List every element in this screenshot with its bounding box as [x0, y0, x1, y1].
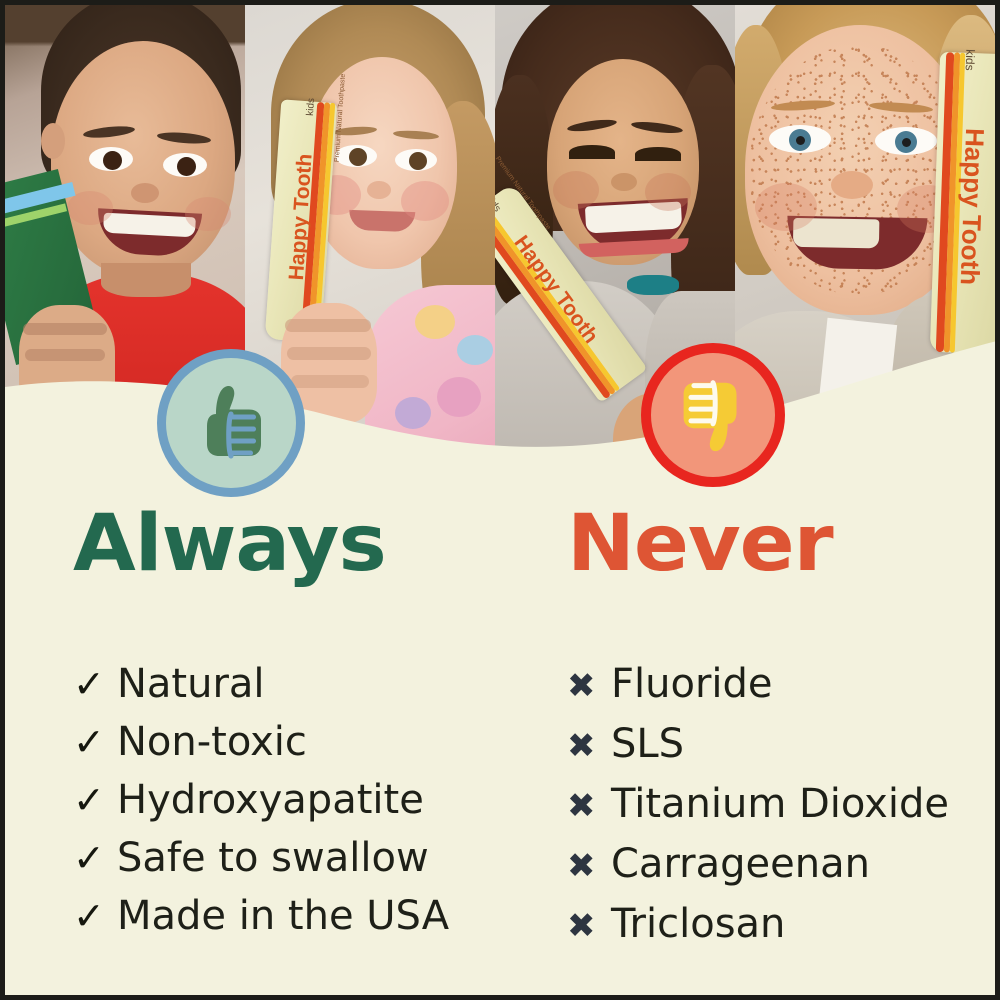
- list-item: ✓ Non-toxic: [73, 713, 505, 771]
- check-icon: ✓: [73, 887, 117, 945]
- thumbs-up-icon: [183, 375, 279, 471]
- never-item-label: Titanium Dioxide: [611, 775, 949, 833]
- list-item: ✓ Safe to swallow: [73, 829, 505, 887]
- list-item: ✓ Natural: [73, 655, 505, 713]
- cross-icon: ✖: [567, 717, 611, 775]
- list-item: ✖ Fluoride: [567, 655, 1000, 715]
- check-icon: ✓: [73, 771, 117, 829]
- list-item: ✖ SLS: [567, 715, 1000, 775]
- cross-icon: ✖: [567, 657, 611, 715]
- never-column: Never ✖ Fluoride ✖ SLS ✖ Titanium Dioxid…: [505, 505, 1000, 955]
- comparison-columns: Always ✓ Natural ✓ Non-toxic ✓ Hydroxyap…: [5, 505, 1000, 955]
- photo-strip: Happy Tooth kids Premium Natural Toothpa…: [5, 5, 1000, 465]
- check-icon: ✓: [73, 713, 117, 771]
- check-icon: ✓: [73, 655, 117, 713]
- never-list: ✖ Fluoride ✖ SLS ✖ Titanium Dioxide ✖ Ca…: [567, 655, 1000, 955]
- thumbs-up-badge: [157, 349, 305, 497]
- never-item-label: Fluoride: [611, 655, 773, 713]
- list-item: ✖ Titanium Dioxide: [567, 775, 1000, 835]
- always-item-label: Made in the USA: [117, 887, 449, 945]
- cross-icon: ✖: [567, 837, 611, 895]
- always-heading: Always: [73, 505, 522, 583]
- check-icon: ✓: [73, 829, 117, 887]
- list-item: ✓ Made in the USA: [73, 887, 505, 945]
- product-benefits-infographic: Happy Tooth kids Premium Natural Toothpa…: [0, 0, 1000, 1000]
- always-list: ✓ Natural ✓ Non-toxic ✓ Hydroxyapatite ✓…: [73, 655, 505, 945]
- always-item-label: Safe to swallow: [117, 829, 429, 887]
- always-item-label: Non-toxic: [117, 713, 307, 771]
- list-item: ✖ Triclosan: [567, 895, 1000, 955]
- never-item-label: Carrageenan: [611, 835, 870, 893]
- never-heading: Never: [567, 505, 1000, 583]
- never-item-label: Triclosan: [611, 895, 785, 953]
- always-item-label: Natural: [117, 655, 265, 713]
- always-item-label: Hydroxyapatite: [117, 771, 424, 829]
- thumbs-down-badge: [641, 343, 785, 487]
- list-item: ✓ Hydroxyapatite: [73, 771, 505, 829]
- cross-icon: ✖: [567, 777, 611, 835]
- thumbs-down-icon: [666, 368, 760, 462]
- never-item-label: SLS: [611, 715, 684, 773]
- always-column: Always ✓ Natural ✓ Non-toxic ✓ Hydroxyap…: [5, 505, 505, 955]
- cross-icon: ✖: [567, 897, 611, 955]
- list-item: ✖ Carrageenan: [567, 835, 1000, 895]
